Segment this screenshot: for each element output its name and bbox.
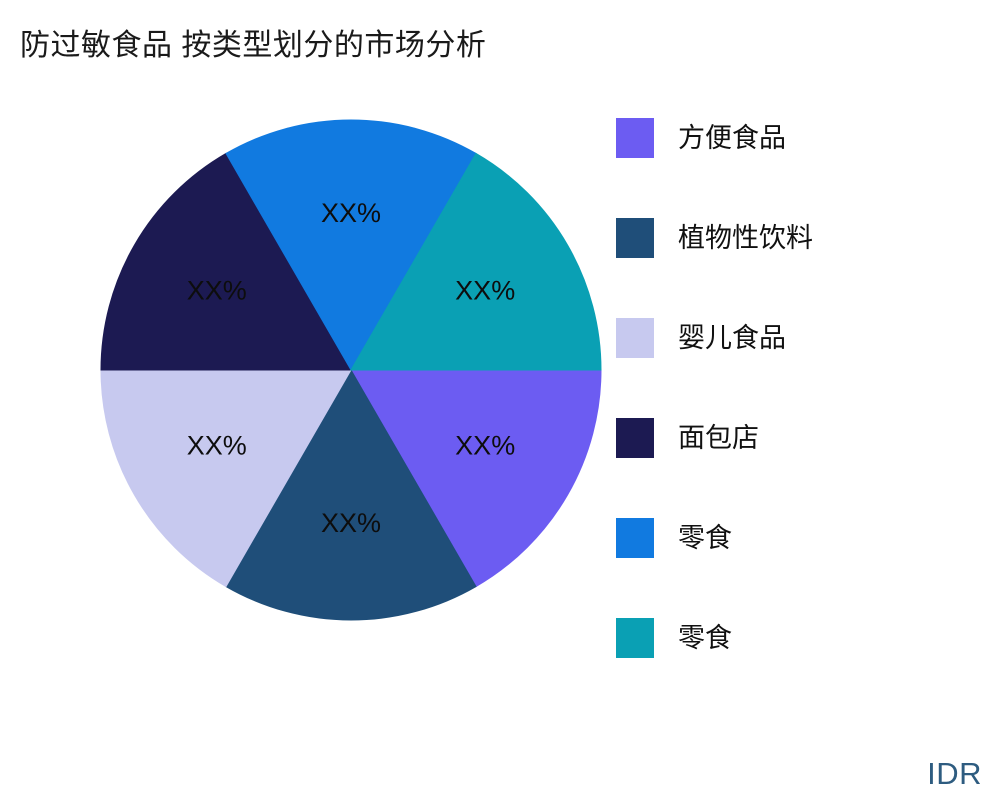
pie-slice-label: XX% xyxy=(321,508,381,538)
legend-item-label: 零食 xyxy=(678,518,732,558)
legend-item[interactable]: 婴儿食品 xyxy=(616,318,946,358)
page-title: 防过敏食品 按类型划分的市场分析 xyxy=(20,26,486,66)
pie-slice-group xyxy=(101,120,601,620)
legend-item[interactable]: 零食 xyxy=(616,618,946,658)
legend-swatch-icon xyxy=(616,518,654,558)
pie-chart: XX%XX%XX%XX%XX%XX% xyxy=(60,95,620,655)
legend-swatch-icon xyxy=(616,218,654,258)
legend-swatch-icon xyxy=(616,118,654,158)
legend-swatch-icon xyxy=(616,418,654,458)
pie-chart-svg: XX%XX%XX%XX%XX%XX% xyxy=(60,95,620,655)
legend-item[interactable]: 面包店 xyxy=(616,418,946,458)
legend-item-label: 零食 xyxy=(678,618,732,658)
legend-item[interactable]: 零食 xyxy=(616,518,946,558)
pie-slice-label: XX% xyxy=(187,431,247,461)
legend-item[interactable]: 方便食品 xyxy=(616,118,946,158)
pie-slice-label: XX% xyxy=(455,276,515,306)
legend-item-label: 面包店 xyxy=(678,418,759,458)
pie-slice-label: XX% xyxy=(321,198,381,228)
legend-item-label: 植物性饮料 xyxy=(678,218,813,258)
watermark-idr: IDR xyxy=(927,756,982,792)
pie-slice-label: XX% xyxy=(187,276,247,306)
legend-item-label: 方便食品 xyxy=(678,118,786,158)
legend-swatch-icon xyxy=(616,318,654,358)
legend-item[interactable]: 植物性饮料 xyxy=(616,218,946,258)
chart-page: 防过敏食品 按类型划分的市场分析 XX%XX%XX%XX%XX%XX% 方便食品… xyxy=(0,0,1000,800)
legend-swatch-icon xyxy=(616,618,654,658)
pie-slice-label: XX% xyxy=(455,431,515,461)
legend-item-label: 婴儿食品 xyxy=(678,318,786,358)
legend: 方便食品植物性饮料婴儿食品面包店零食零食 xyxy=(616,118,946,718)
